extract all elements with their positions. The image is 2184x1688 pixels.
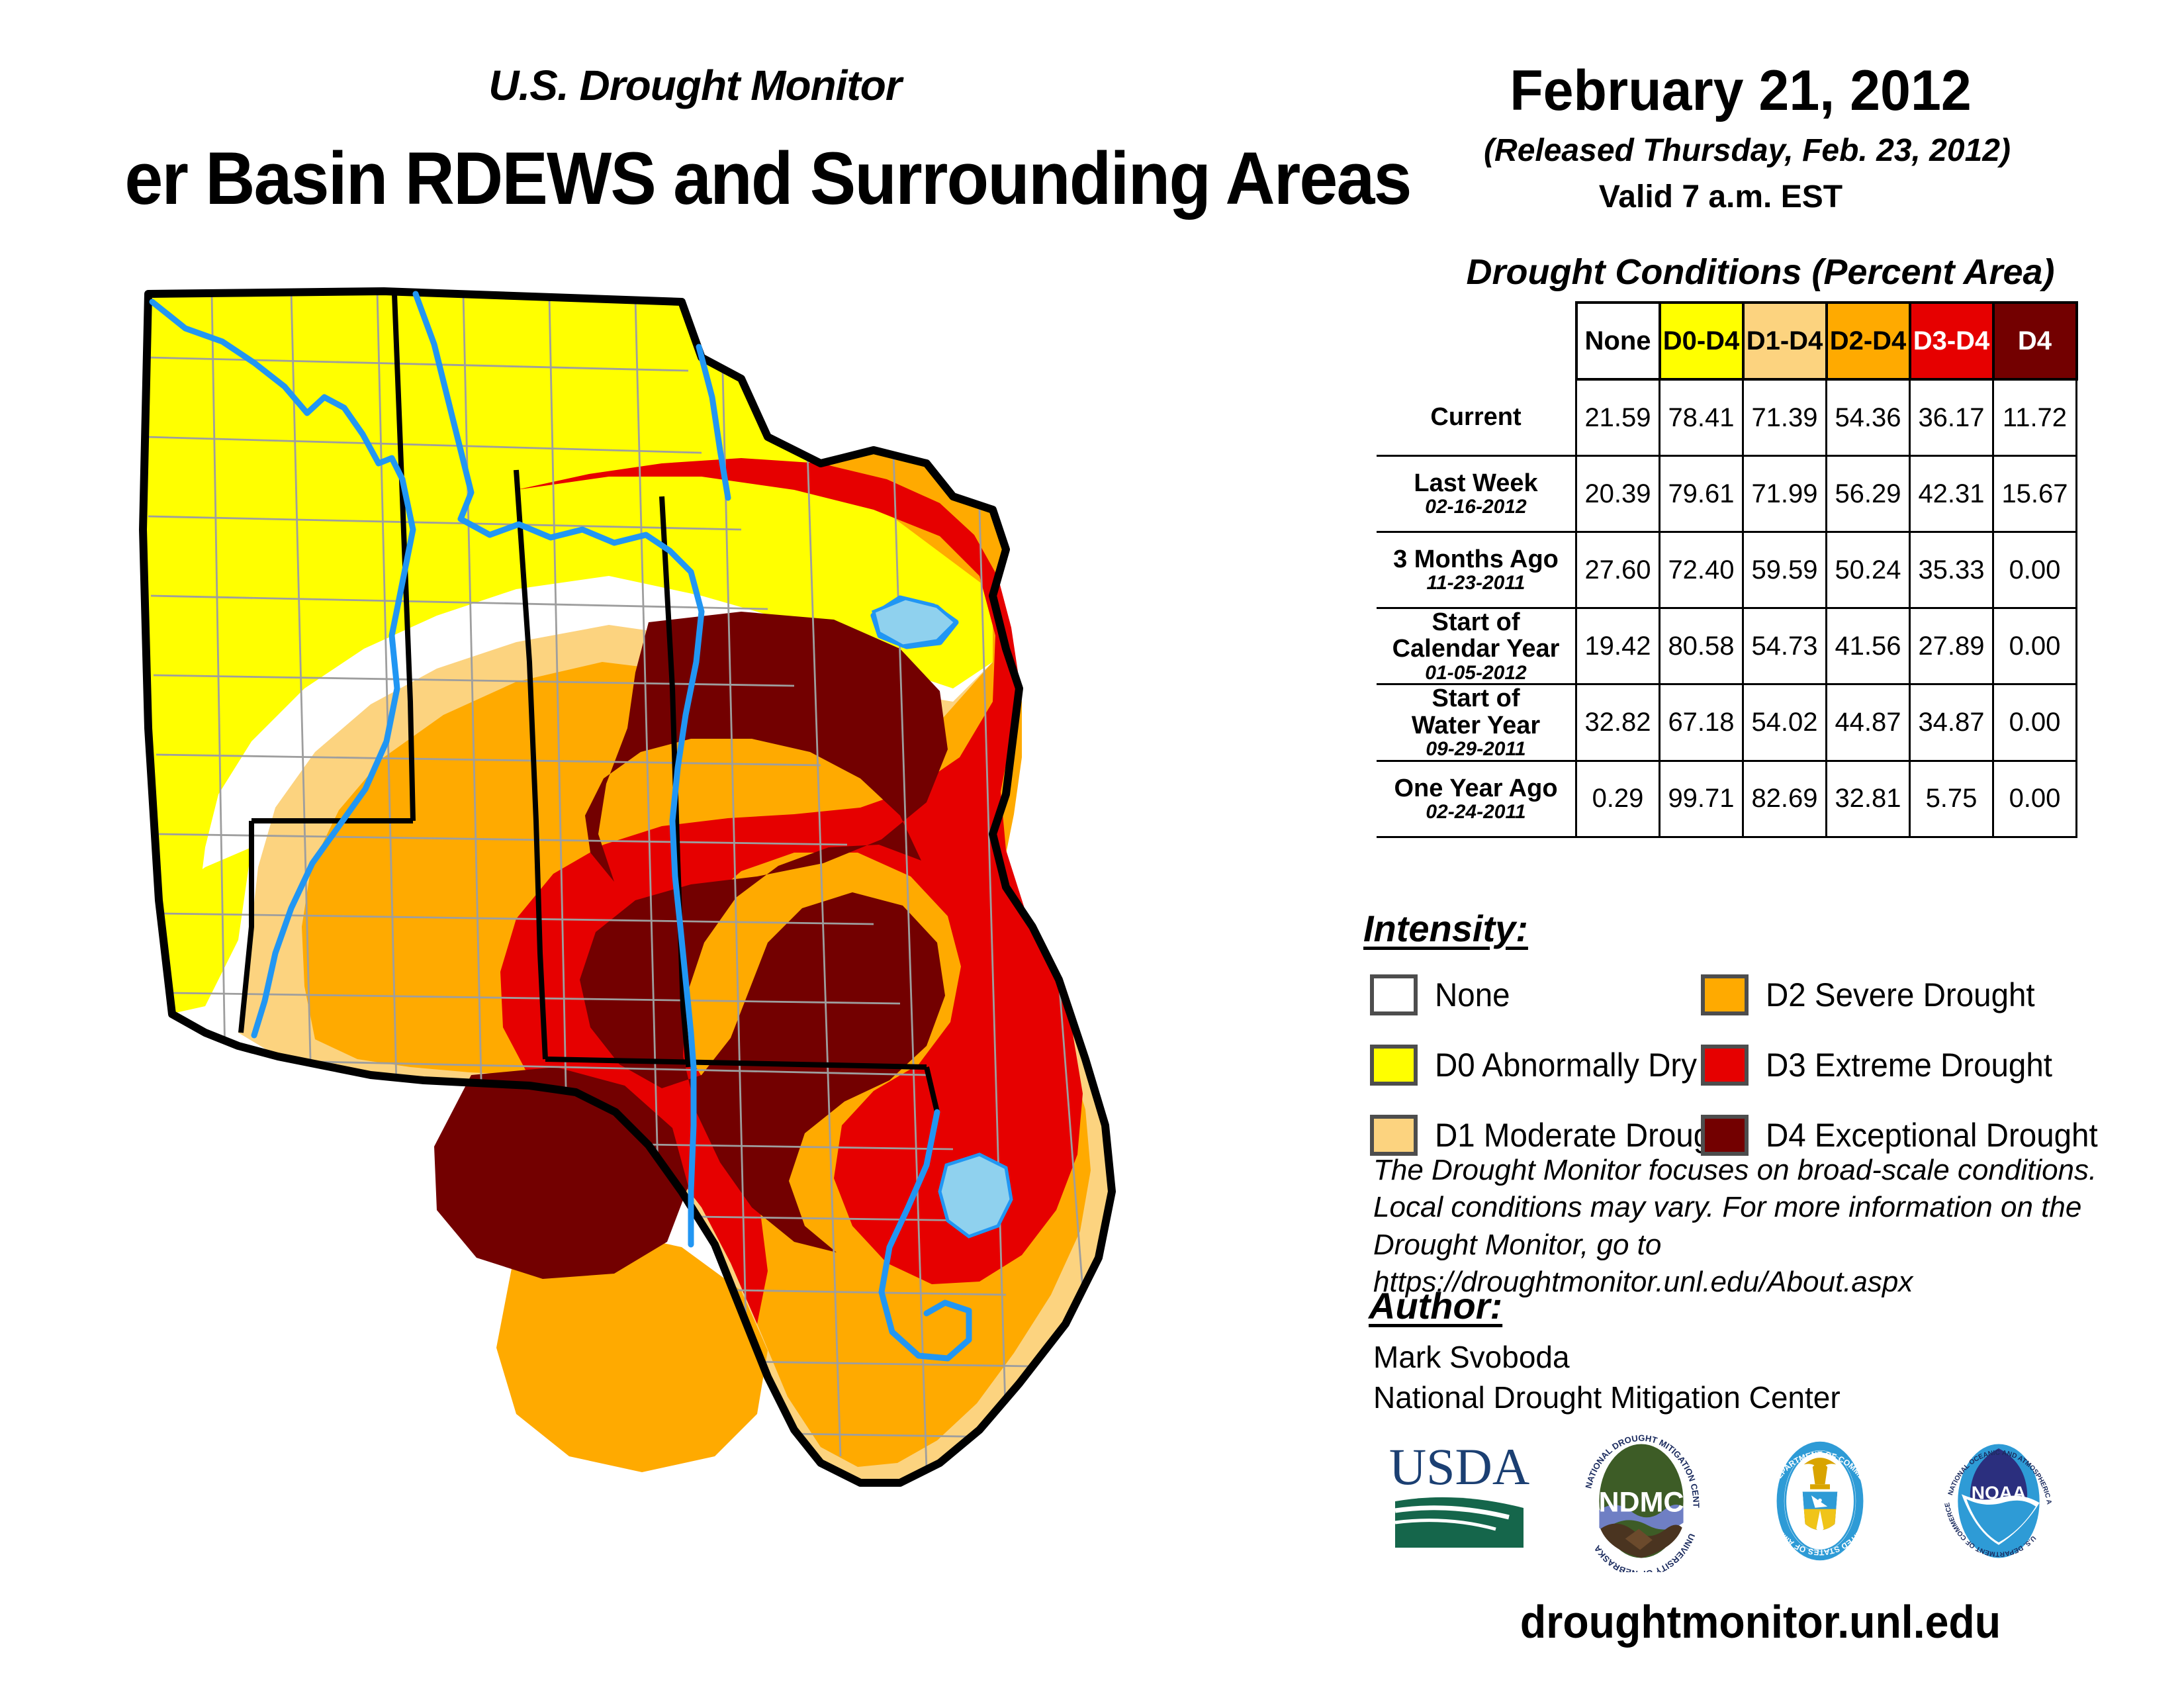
row-label-line: 3 Months Ago <box>1393 545 1559 573</box>
row-label-line: Start of <box>1432 684 1520 712</box>
noaa-logo-text: NOAA <box>1972 1483 2026 1503</box>
row-label-line: One Year Ago <box>1394 774 1557 802</box>
map-subtitle: U.S. Drought Monitor <box>0 61 1390 110</box>
row-label: Last Week02-16-2012 <box>1377 456 1576 532</box>
row-label-line: Last Week <box>1414 469 1537 497</box>
valid-time: Valid 7 a.m. EST <box>1516 179 1926 215</box>
table-cell: 99.71 <box>1660 761 1743 837</box>
swatch-d3-icon <box>1701 1045 1749 1086</box>
table-cell: 15.67 <box>1993 456 2077 532</box>
intensity-heading: Intensity: <box>1363 907 1528 950</box>
noaa-logo: NOAA NATIONAL OCEANIC AND ATMOSPHERIC AD… <box>1933 1430 2065 1572</box>
department-of-commerce-logo: DEPARTMENT OF COMMERCE UNITED STATES OF … <box>1754 1430 1886 1572</box>
table-cell: 5.75 <box>1910 761 1993 837</box>
disclaimer-text: The Drought Monitor focuses on broad-sca… <box>1373 1152 2154 1301</box>
swatch-d2-icon <box>1701 974 1749 1015</box>
table-corner-blank <box>1377 303 1576 379</box>
table-cell: 71.99 <box>1743 456 1827 532</box>
row-label-date: 11-23-2011 <box>1377 573 1575 594</box>
usda-logo-text: USDA <box>1389 1438 1529 1495</box>
table-cell: 54.02 <box>1743 684 1827 761</box>
table-cell: 20.39 <box>1576 456 1660 532</box>
column-header-d4: D4 <box>1993 303 2077 379</box>
table-row: One Year Ago02-24-20110.2999.7182.6932.8… <box>1377 761 2077 837</box>
table-cell: 42.31 <box>1910 456 1993 532</box>
table-cell: 82.69 <box>1743 761 1827 837</box>
table-cell: 36.17 <box>1910 379 1993 456</box>
table-cell: 0.00 <box>1993 532 2077 608</box>
table-cell: 54.73 <box>1743 608 1827 684</box>
legend-item-d0: D0 Abnormally Dry <box>1370 1038 1753 1092</box>
drought-map[interactable] <box>79 265 1297 1549</box>
ndmc-logo: NDMC NATIONAL DROUGHT MITIGATION CENTER … <box>1575 1430 1707 1572</box>
column-header-none: None <box>1576 303 1660 379</box>
ndmc-logo-text: NDMC <box>1599 1486 1684 1518</box>
table-row: 3 Months Ago11-23-201127.6072.4059.5950.… <box>1377 532 2077 608</box>
author-organization: National Drought Mitigation Center <box>1373 1378 1841 1418</box>
usda-logo: USDA <box>1383 1430 1535 1562</box>
column-header-d2-d4: D2-D4 <box>1827 303 1910 379</box>
table-cell: 41.56 <box>1827 608 1910 684</box>
table-title: Drought Conditions (Percent Area) <box>1363 252 2158 293</box>
site-url[interactable]: droughtmonitor.unl.edu <box>1426 1595 2095 1648</box>
legend-label-none: None <box>1435 976 1510 1014</box>
row-label-date: 01-05-2012 <box>1377 663 1575 684</box>
disclaimer-line-2: Local conditions may vary. For more info… <box>1373 1189 2154 1226</box>
table-cell: 21.59 <box>1576 379 1660 456</box>
legend-item-d3: D3 Extreme Drought <box>1701 1038 2115 1092</box>
row-label: Start ofWater Year09-29-2011 <box>1377 684 1576 761</box>
table-cell: 72.40 <box>1660 532 1743 608</box>
row-label-date: 02-24-2011 <box>1377 802 1575 823</box>
row-label: Current <box>1377 379 1576 456</box>
swatch-d0-icon <box>1370 1045 1418 1086</box>
table-cell: 44.87 <box>1827 684 1910 761</box>
table-cell: 27.60 <box>1576 532 1660 608</box>
legend-label-d4: D4 Exceptional Drought <box>1766 1116 2098 1154</box>
author-heading: Author: <box>1369 1284 1502 1327</box>
swatch-none-icon <box>1370 974 1418 1015</box>
legend-label-d2: D2 Severe Drought <box>1766 976 2035 1014</box>
row-label-date: 02-16-2012 <box>1377 496 1575 518</box>
table-cell: 34.87 <box>1910 684 1993 761</box>
author-info: Mark Svoboda National Drought Mitigation… <box>1373 1337 1841 1418</box>
table-cell: 67.18 <box>1660 684 1743 761</box>
table-cell: 35.33 <box>1910 532 1993 608</box>
legend-label-d1: D1 Moderate Drought <box>1435 1116 1737 1154</box>
legend-label-d0: D0 Abnormally Dry <box>1435 1046 1697 1084</box>
table-cell: 71.39 <box>1743 379 1827 456</box>
row-label-line: Start of <box>1432 608 1520 636</box>
column-header-d0-d4: D0-D4 <box>1660 303 1743 379</box>
column-header-d3-d4: D3-D4 <box>1910 303 1993 379</box>
row-label-line: Water Year <box>1412 712 1540 739</box>
table-header-row: None D0-D4 D1-D4 D2-D4 D3-D4 D4 <box>1377 303 2077 379</box>
table-cell: 78.41 <box>1660 379 1743 456</box>
table-cell: 56.29 <box>1827 456 1910 532</box>
valid-date: February 21, 2012 <box>1499 58 1982 124</box>
row-label: One Year Ago02-24-2011 <box>1377 761 1576 837</box>
table-cell: 0.00 <box>1993 684 2077 761</box>
table-row: Current21.5978.4171.3954.3636.1711.72 <box>1377 379 2077 456</box>
table-cell: 59.59 <box>1743 532 1827 608</box>
swatch-d1-icon <box>1370 1115 1418 1156</box>
row-label-line: Current <box>1430 403 1521 431</box>
legend-label-d3: D3 Extreme Drought <box>1766 1046 2052 1084</box>
logo-row: USDA NDMC NATIONAL DROUGHT MITIGATION CE… <box>1383 1430 2111 1582</box>
row-label-line: Calendar Year <box>1392 635 1560 663</box>
legend-column-right: D2 Severe Drought D3 Extreme Drought D4 … <box>1701 968 2115 1178</box>
swatch-d4-icon <box>1701 1115 1749 1156</box>
author-name: Mark Svoboda <box>1373 1337 1841 1378</box>
row-label-date: 09-29-2011 <box>1377 739 1575 760</box>
table-cell: 79.61 <box>1660 456 1743 532</box>
legend-column-left: None D0 Abnormally Dry D1 Moderate Droug… <box>1370 968 1753 1178</box>
table-row: Start ofCalendar Year01-05-201219.4280.5… <box>1377 608 2077 684</box>
table-cell: 0.00 <box>1993 608 2077 684</box>
table-cell: 32.81 <box>1827 761 1910 837</box>
drought-conditions-table: None D0-D4 D1-D4 D2-D4 D3-D4 D4 Current2… <box>1377 301 2078 838</box>
table-cell: 54.36 <box>1827 379 1910 456</box>
table-cell: 50.24 <box>1827 532 1910 608</box>
row-label: 3 Months Ago11-23-2011 <box>1377 532 1576 608</box>
row-label: Start ofCalendar Year01-05-2012 <box>1377 608 1576 684</box>
disclaimer-line-1: The Drought Monitor focuses on broad-sca… <box>1373 1152 2154 1189</box>
table-cell: 27.89 <box>1910 608 1993 684</box>
table-cell: 80.58 <box>1660 608 1743 684</box>
table-cell: 11.72 <box>1993 379 2077 456</box>
page-title: er Basin RDEWS and Surrounding Areas <box>0 136 1629 221</box>
table-cell: 19.42 <box>1576 608 1660 684</box>
drought-map-svg[interactable] <box>79 265 1297 1549</box>
table-row: Last Week02-16-201220.3979.6171.9956.294… <box>1377 456 2077 532</box>
table-cell: 0.00 <box>1993 761 2077 837</box>
legend-item-none: None <box>1370 968 1753 1022</box>
table-cell: 0.29 <box>1576 761 1660 837</box>
table-cell: 32.82 <box>1576 684 1660 761</box>
legend-item-d2: D2 Severe Drought <box>1701 968 2115 1022</box>
release-date: (Released Thursday, Feb. 23, 2012) <box>1436 132 2058 169</box>
column-header-d1-d4: D1-D4 <box>1743 303 1827 379</box>
table-body: Current21.5978.4171.3954.3636.1711.72Las… <box>1377 379 2077 837</box>
table-row: Start ofWater Year09-29-201132.8267.1854… <box>1377 684 2077 761</box>
